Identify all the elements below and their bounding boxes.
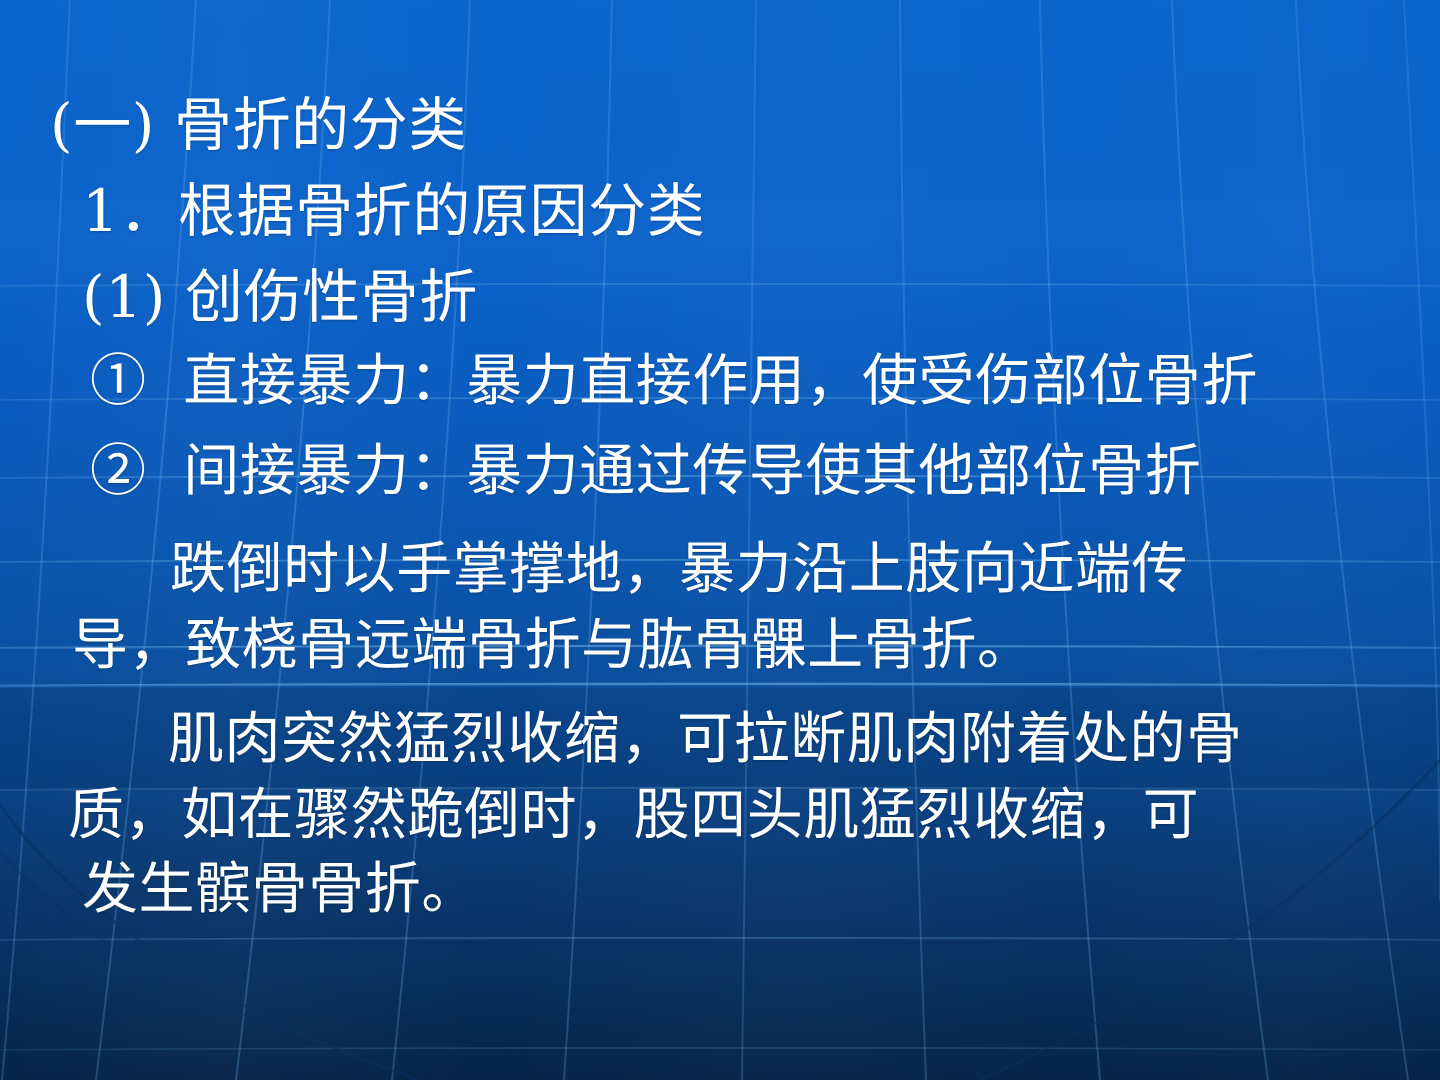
paragraph-2-line-3: 发生髌骨骨折。 (82, 862, 478, 918)
paragraph-1-line-2: 导，致桡骨远端骨折与肱骨髁上骨折。 (72, 618, 1034, 674)
presentation-slide: (一) 骨折的分类 1．根据骨折的原因分类 (1) 创伤性骨折 ① 直接暴力：暴… (0, 0, 1440, 1080)
list-item-1: 1．根据骨折的原因分类 (82, 182, 705, 240)
list-item-circled-2: ② 间接暴力：暴力通过传导使其他部位骨折 (90, 444, 1201, 500)
list-item-1-1: (1) 创伤性骨折 (82, 268, 478, 326)
paragraph-1-line-1: 跌倒时以手掌撑地，暴力沿上肢向近端传 (170, 542, 1188, 598)
slide-heading: (一) 骨折的分类 (50, 96, 467, 154)
list-item-circled-1: ① 直接暴力：暴力直接作用，使受伤部位骨折 (90, 354, 1258, 410)
paragraph-2-line-2: 质，如在骤然跪倒时，股四头肌猛烈收缩，可 (68, 788, 1199, 844)
slide-text-content: (一) 骨折的分类 1．根据骨折的原因分类 (1) 创伤性骨折 ① 直接暴力：暴… (0, 0, 1440, 1080)
paragraph-2-line-1: 肌肉突然猛烈收缩，可拉断肌肉附着处的骨 (168, 712, 1243, 768)
